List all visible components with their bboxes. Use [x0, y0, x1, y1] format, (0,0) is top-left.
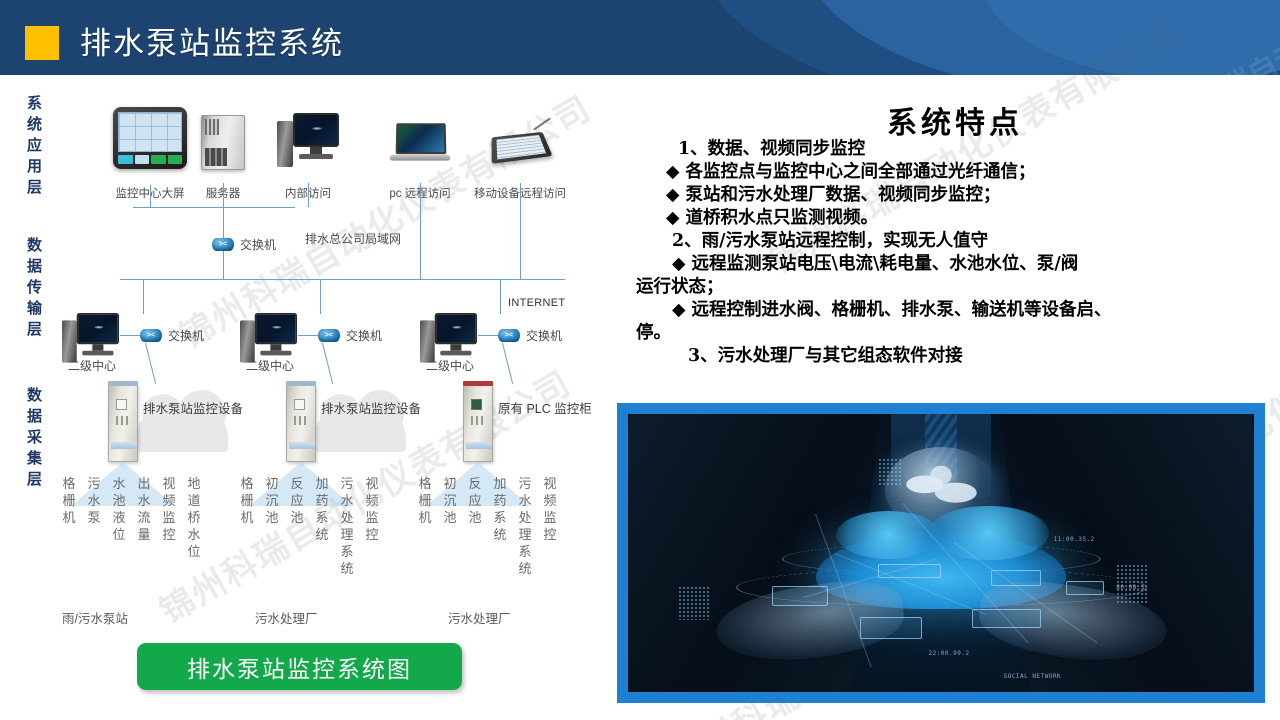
switch-label: 交换机 [168, 327, 204, 344]
pump-station-cabinet-icon [286, 384, 316, 462]
desktop-pc-icon [277, 113, 339, 171]
link-internal [308, 183, 309, 207]
switch-label: 交换机 [526, 327, 562, 344]
lan-label: 排水总公司局域网 [305, 230, 401, 247]
system-architecture-diagram: 系统应用层 数据传输层 数据采集层 监控中心大屏 服务器 内部访问 [0, 75, 620, 720]
photo-label-1: 80.08.1 [1116, 584, 1145, 591]
center-node-3: 二级中心 交换机 [420, 313, 530, 383]
feature-line-8: ◆ 远程控制进水阀、格栅机、排水泵、输送机等设备启、 [672, 299, 1112, 321]
center-node-2: 二级中心 交换机 [240, 313, 350, 383]
center-label: 二级中心 [426, 357, 474, 374]
device-column-item: 加药系统 [493, 475, 507, 577]
layer-label-acquisition: 数据采集层 [22, 385, 48, 490]
device-column-item: 反应池 [290, 475, 304, 577]
internet-bus [120, 279, 565, 280]
feature-line-2: ◆ 各监控点与监控中心之间全部通过光纤通信； [666, 161, 1036, 183]
cabinet-label: 排水泵站监控设备 [321, 398, 421, 417]
laptop-icon [390, 123, 450, 167]
feature-line-10: 3、污水处理厂与其它组态软件对接 [688, 345, 963, 367]
internet-label: INTERNET [508, 297, 565, 309]
cabinet-label: 排水泵站监控设备 [143, 398, 243, 417]
big-screen-icon [113, 107, 187, 169]
site-label-2: 污水处理厂 [255, 608, 318, 627]
switch-icon [140, 329, 162, 342]
page-title: 排水泵站监控系统 [80, 18, 344, 63]
switch-label: 交换机 [240, 236, 276, 253]
plc-cabinet-icon [463, 384, 493, 462]
device-column-item: 污水处理系统 [518, 475, 532, 577]
server-icon [201, 115, 245, 170]
device-column-item: 出水流量 [137, 475, 151, 560]
device-column-group-1: 格栅机 污水泵 水池液位 出水流量 视频监控 地道桥水位 [62, 475, 201, 560]
link-center-3 [500, 279, 501, 314]
diagram-caption-button[interactable]: 排水泵站监控系统图 [137, 643, 462, 690]
pump-station-cabinet-icon [108, 384, 138, 462]
feature-line-4: ◆ 道桥积水点只监测视频。 [666, 207, 878, 229]
link-center-1 [143, 279, 144, 314]
cloud-network-photo: 80.08.1 SOCIAL NETWORK 11:00.35.2 22:00.… [628, 414, 1254, 692]
device-column-item: 初沉池 [443, 475, 457, 577]
device-column-item: 格栅机 [418, 475, 432, 577]
photo-label-3: 11:00.35.2 [1054, 536, 1095, 543]
header-accent-square [25, 26, 59, 60]
holo-icon-tablet [772, 586, 828, 605]
slide-page: 排水泵站监控系统 锦州科瑞自动化仪表有限公司 锦州科瑞自动化仪表有限公司 锦州科… [0, 0, 1280, 720]
switch-icon [212, 238, 234, 251]
feature-line-5: 2、雨/污水泵站远程控制，实现无人值守 [672, 230, 988, 252]
device-column-item: 加药系统 [315, 475, 329, 577]
link-pc-remote [420, 183, 421, 279]
switch-icon [318, 329, 340, 342]
photo-label-4: 22:00.99.2 [928, 650, 969, 657]
feature-line-7: 运行状态； [636, 276, 724, 298]
device-column-item: 格栅机 [62, 475, 76, 560]
device-column-group-2: 格栅机 初沉池 反应池 加药系统 污水处理系统 视频监控 [240, 475, 379, 577]
device-column-group-3: 格栅机 初沉池 反应池 加药系统 污水处理系统 视频监控 [418, 475, 557, 577]
device-column-item: 反应池 [468, 475, 482, 577]
device-column-item: 格栅机 [240, 475, 254, 577]
lan-bus [133, 207, 295, 208]
site-label-1: 雨/污水泵站 [62, 608, 128, 627]
feature-line-6: ◆ 远程监测泵站电压\电流\耗电量、水池水位、泵/阀 [672, 253, 1078, 275]
switch-label: 交换机 [346, 327, 382, 344]
link-server [223, 183, 224, 207]
device-column-item: 地道桥水位 [187, 475, 201, 560]
cloud-network-photo-frame: 80.08.1 SOCIAL NETWORK 11:00.35.2 22:00.… [617, 403, 1265, 703]
holo-icon-doc [991, 570, 1041, 587]
tablet-icon [492, 125, 548, 167]
center-label: 二级中心 [68, 357, 116, 374]
holo-icon-laptop [860, 617, 923, 639]
holo-icon-chart [1066, 581, 1104, 595]
page-header: 排水泵站监控系统 锦州科瑞自动化仪表有限公司 [0, 0, 1280, 75]
center-label: 二级中心 [246, 357, 294, 374]
feature-line-3: ◆ 泵站和污水处理厂数据、视频同步监控； [666, 184, 1001, 206]
cabinet-label: 原有 PLC 监控柜 [498, 398, 592, 417]
layer-label-application: 系统应用层 [22, 93, 48, 198]
link-mobile-remote [520, 183, 521, 279]
device-column-item: 视频监控 [162, 475, 176, 560]
device-column-item: 污水处理系统 [340, 475, 354, 577]
switch-icon [498, 329, 520, 342]
link-center-2 [320, 279, 321, 314]
device-column-item: 污水泵 [87, 475, 101, 560]
feature-line-9: 停。 [636, 322, 671, 344]
device-column-item: 视频监控 [365, 475, 379, 577]
device-column-item: 初沉池 [265, 475, 279, 577]
device-column-item: 水池液位 [112, 475, 126, 560]
device-column-item: 视频监控 [543, 475, 557, 577]
center-node-1: 二级中心 交换机 [62, 313, 172, 383]
layer-label-transmission: 数据传输层 [22, 235, 48, 340]
features-panel: 系统特点 1、数据、视频同步监控 ◆ 各监控点与监控中心之间全部通过光纤通信； … [630, 90, 1280, 720]
link-big-screen [150, 185, 151, 207]
features-title: 系统特点 [630, 98, 1280, 142]
feature-line-1: 1、数据、视频同步监控 [678, 138, 865, 160]
photo-label-2: SOCIAL NETWORK [1004, 673, 1062, 680]
site-label-3: 污水处理厂 [448, 608, 511, 627]
